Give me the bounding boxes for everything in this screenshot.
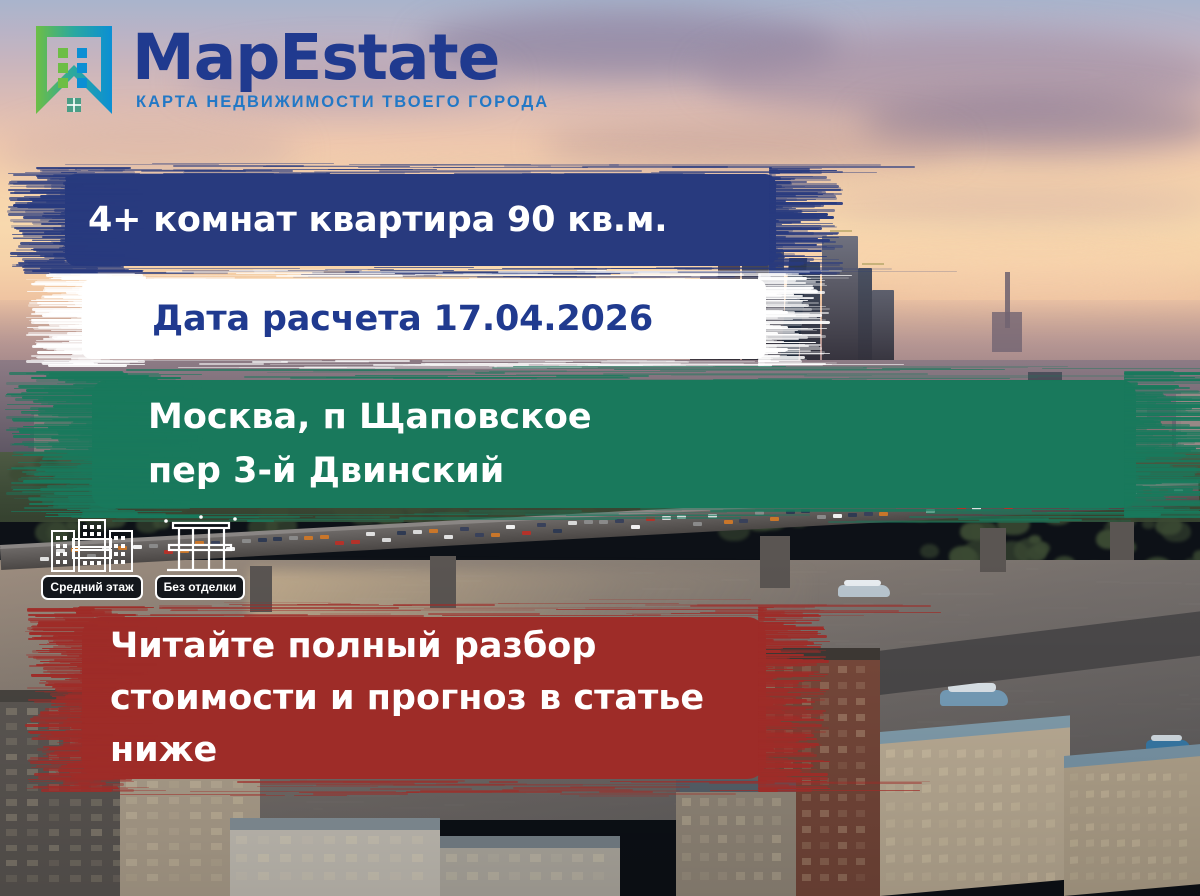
brush-streak: [601, 361, 689, 363]
brush-streak: [320, 613, 391, 615]
banner-rooms-area-text: 4+ комнат квартира 90 кв.м.: [88, 200, 667, 240]
banner-address-line2: пер 3-й Двинский: [148, 444, 592, 498]
logo-word: MapEstate: [132, 26, 549, 90]
logo-tagline: КАРТА НЕДВИЖИМОСТИ ТВОЕГО ГОРОДА: [136, 93, 549, 112]
brush-streak: [849, 377, 1038, 378]
brush-streak: [102, 277, 235, 279]
brush-streak: [171, 609, 199, 611]
badge-floor[interactable]: Средний этаж: [44, 513, 140, 600]
brand-logo[interactable]: MapEstate КАРТА НЕДВИЖИМОСТИ ТВОЕГО ГОРО…: [30, 22, 549, 118]
brush-streak: [436, 783, 527, 785]
banner-address: Москва, п Щаповское пер 3-й Двинский: [28, 370, 1188, 518]
feature-badges: Средний этаж: [44, 513, 248, 600]
bookmark-building-icon: [30, 22, 118, 118]
brush-streak: [141, 275, 400, 276]
logo-wordmark: MapEstate КАРТА НЕДВИЖИМОСТИ ТВОЕГО ГОРО…: [132, 22, 549, 112]
brush-streak: [513, 366, 786, 367]
banner-cta-text: Читайте полный разбор стоимости и прогно…: [110, 620, 704, 776]
brush-streak: [237, 781, 458, 783]
brush-streak: [173, 165, 304, 167]
brush-streak: [359, 271, 443, 273]
brush-streak: [589, 599, 751, 600]
banner-calc-date: Дата расчета 17.04.2026: [40, 272, 800, 366]
brush-streak: [713, 379, 832, 380]
banner-rooms-area: 4+ комнат квартира 90 кв.м.: [22, 166, 812, 274]
brush-streak: [393, 377, 537, 379]
brush-streak: [390, 617, 443, 619]
brush-streak: [640, 508, 896, 510]
brush-streak: [469, 510, 582, 512]
brush-streak: [904, 380, 1177, 381]
brush-streak: [313, 793, 409, 795]
banner-call-to-action: Читайте полный разбор стоимости и прогно…: [40, 604, 800, 792]
brush-streak: [260, 783, 414, 785]
banner-cta-line1: Читайте полный разбор: [110, 620, 704, 672]
brush-streak: [715, 610, 899, 612]
brush-streak: [442, 275, 680, 276]
brush-streak: [370, 788, 472, 790]
buildings-icon: [49, 515, 135, 573]
brush-streak: [1047, 512, 1200, 513]
brush-streak: [958, 518, 1049, 520]
badge-finishing[interactable]: Без отделки: [152, 513, 248, 600]
brush-streak: [299, 792, 419, 793]
brush-streak: [279, 172, 421, 173]
brush-streak: [564, 173, 705, 175]
brush-streak: [244, 615, 425, 617]
brush-streak: [117, 380, 234, 382]
brush-streak: [88, 170, 272, 171]
brush-streak: [224, 602, 331, 603]
banner-calc-date-text: Дата расчета 17.04.2026: [152, 299, 653, 339]
brush-streak: [660, 370, 900, 371]
brush-streak: [242, 605, 412, 606]
badge-floor-label: Средний этаж: [41, 575, 142, 600]
brush-streak: [163, 173, 275, 175]
banner-address-text: Москва, п Щаповское пер 3-й Двинский: [148, 390, 592, 498]
banner-address-line1: Москва, п Щаповское: [148, 390, 592, 444]
brush-streak: [100, 790, 166, 791]
brush-streak: [502, 789, 633, 791]
brush-streak: [281, 361, 369, 362]
brush-streak: [120, 794, 266, 795]
brush-streak: [710, 790, 920, 791]
brush-streak: [556, 375, 648, 377]
brush-streak: [281, 362, 369, 363]
brush-streak: [199, 363, 264, 365]
brush-streak: [334, 609, 535, 611]
badge-finishing-icon-wrap: [157, 513, 243, 573]
brush-streak: [670, 277, 849, 279]
banner-cta-line2: стоимости и прогноз в статье: [110, 672, 704, 724]
brush-streak: [691, 275, 717, 277]
brush-streak: [758, 669, 793, 670]
brush-streak: [1042, 368, 1200, 369]
badge-finishing-label: Без отделки: [155, 575, 246, 600]
brush-streak: [982, 514, 1200, 515]
brush-streak: [585, 607, 805, 609]
brush-streak: [178, 367, 347, 368]
brush-streak: [374, 267, 474, 268]
brush-streak: [159, 605, 211, 607]
construction-frame-icon: [157, 515, 243, 573]
brush-streak: [475, 372, 505, 374]
brush-streak: [525, 514, 811, 516]
brush-streak: [159, 607, 398, 609]
brush-streak: [424, 608, 558, 609]
brush-streak: [358, 167, 475, 168]
brush-streak: [632, 614, 661, 616]
brush-streak: [656, 278, 691, 280]
badge-floor-icon-wrap: [49, 513, 135, 573]
banner-cta-line3: ниже: [110, 724, 704, 776]
poster-card: MapEstate КАРТА НЕДВИЖИМОСТИ ТВОЕГО ГОРО…: [0, 0, 1200, 896]
brush-streak: [468, 363, 508, 364]
brush-streak: [709, 782, 921, 784]
brush-streak: [257, 786, 378, 787]
brush-streak: [637, 615, 864, 616]
brush-streak: [469, 278, 685, 279]
